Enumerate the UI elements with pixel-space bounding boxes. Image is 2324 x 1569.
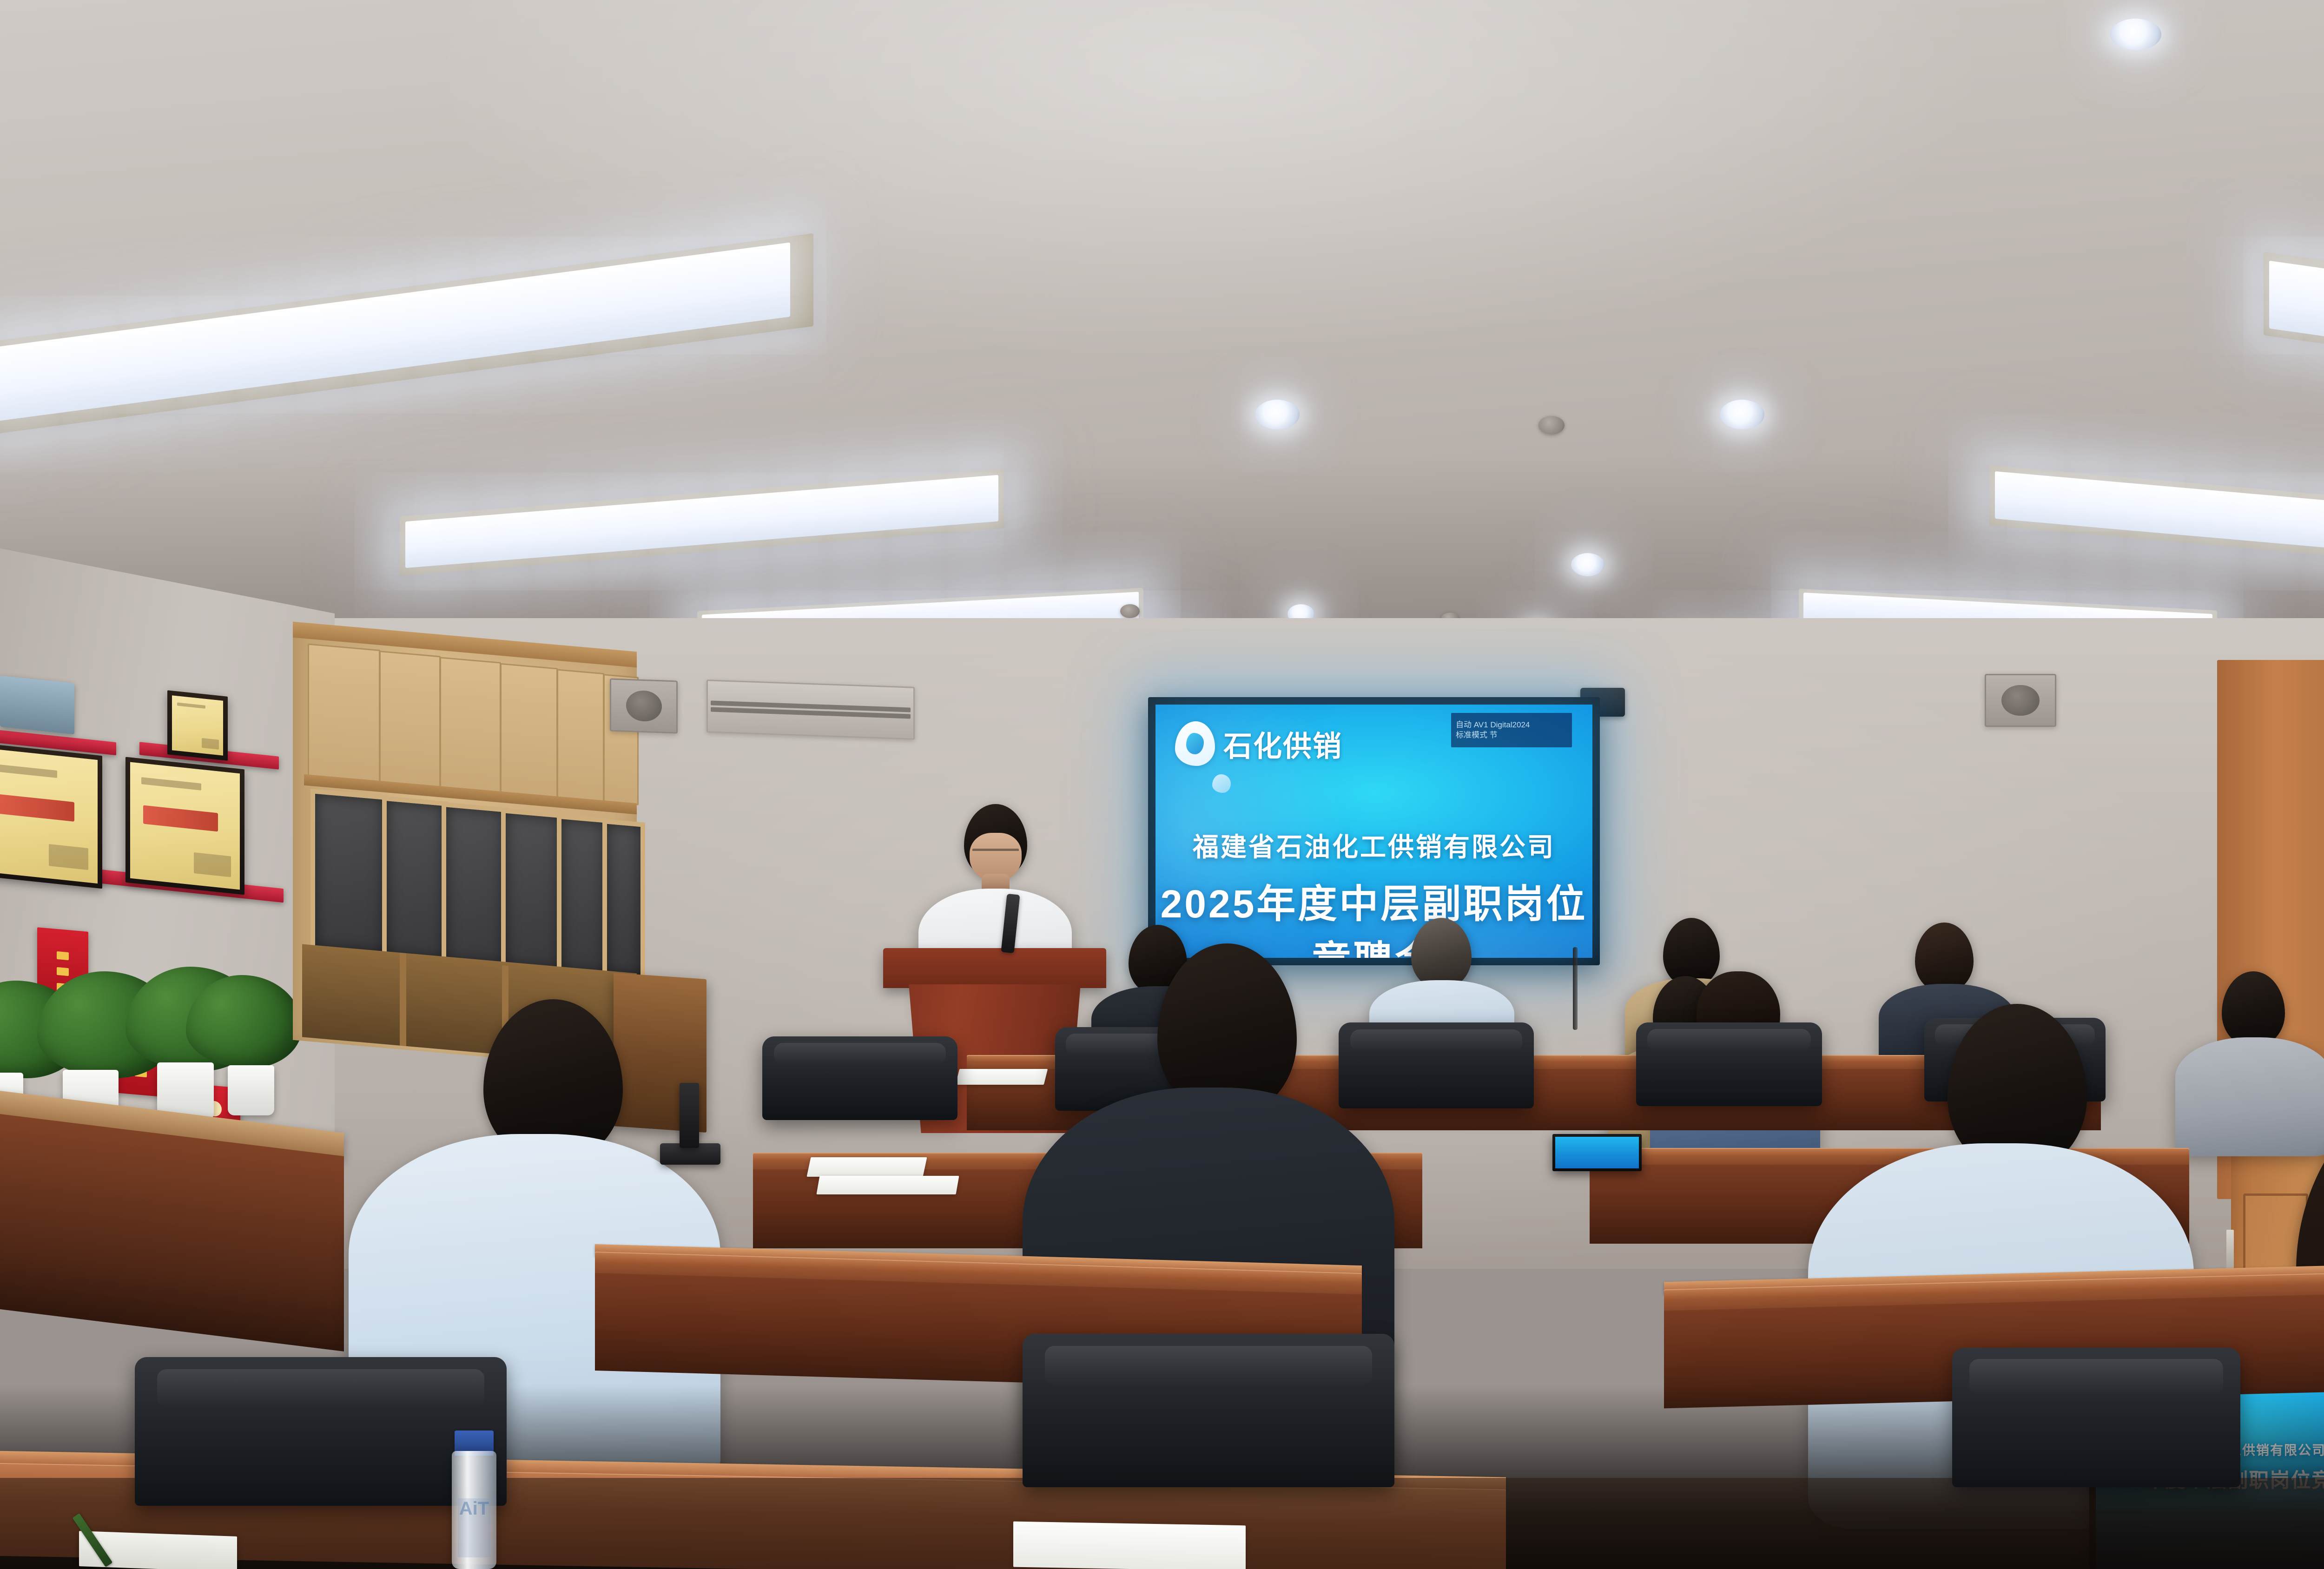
ceiling-downlight-3 xyxy=(1720,400,1764,429)
ceiling-downlight-4 xyxy=(1571,553,1604,576)
cabinet-upper-door-5 xyxy=(557,669,604,802)
osd-line-1: 自动 AV1 Digital2024 xyxy=(1456,720,1567,730)
desk-paper-row3 xyxy=(816,1176,959,1194)
plant-pot-4 xyxy=(228,1065,274,1115)
desk-microphone-stem xyxy=(680,1083,699,1148)
ceiling-downlight-2 xyxy=(1255,400,1300,429)
logo-accent-dot-icon xyxy=(1212,774,1231,793)
cabinet-upper-door-3 xyxy=(440,657,501,794)
head xyxy=(2222,971,2285,1047)
smoke-detector-2 xyxy=(1120,604,1140,618)
cabinet-glass-door-6 xyxy=(602,819,645,982)
chair-foreground-mid[interactable] xyxy=(1023,1334,1394,1487)
brand-logo-text: 石化供销 xyxy=(1223,723,1342,765)
slide-company-name: 福建省石油化工供销有限公司 xyxy=(1155,826,1592,864)
chair-foreground-left[interactable] xyxy=(135,1357,507,1506)
head xyxy=(1411,918,1472,989)
air-conditioning-vent xyxy=(706,679,915,740)
trophy-plaque-top-left xyxy=(0,676,74,735)
cabinet-glass-door-2 xyxy=(382,796,449,964)
cabinet-glass-door-3 xyxy=(442,802,508,970)
ceiling-downlight-1 xyxy=(2110,19,2161,50)
certificate-plaque-small-top xyxy=(167,690,228,761)
cabinet-upper-door-4 xyxy=(500,663,558,799)
wall-speaker-left xyxy=(610,678,678,733)
water-bottle-label: AiT xyxy=(458,1498,490,1557)
cabinet-glass-door-4 xyxy=(501,808,564,975)
display-power-cable xyxy=(1573,947,1578,1030)
certificate-plaque-1 xyxy=(0,743,102,889)
cabinet-glass-door-1 xyxy=(310,789,389,958)
brand-logo-row: 石化供销 xyxy=(1175,721,1342,766)
wall-speaker-right xyxy=(1985,674,2056,727)
cabinet-glass-door-5 xyxy=(557,814,610,978)
head xyxy=(1915,923,1974,992)
shihua-droplet-logo-icon xyxy=(1175,721,1215,766)
cabinet-upper-door-2 xyxy=(379,651,441,789)
desk-paper-row2 xyxy=(807,1157,927,1177)
certificate-plaque-2 xyxy=(125,757,244,895)
presenter-glasses-icon xyxy=(972,849,1019,859)
conference-room-photo: 石化供销 福建省石油化工供销有限公司 2025年度中层副职岗位竞聘会 2025年… xyxy=(0,0,2324,1569)
smoke-detector-1 xyxy=(1538,416,1565,435)
chair-row1-4[interactable] xyxy=(1636,1022,1822,1106)
chair-foreground-right[interactable] xyxy=(1952,1348,2240,1487)
cabinet-upper-door-1 xyxy=(308,643,380,784)
documents-foreground xyxy=(1013,1522,1246,1569)
desk-monitor-row2[interactable] xyxy=(1552,1134,1642,1171)
chair-row1-1[interactable] xyxy=(762,1036,957,1120)
water-bottle: AiT xyxy=(452,1451,496,1569)
display-osd-overlay: 自动 AV1 Digital2024 标准模式 节 xyxy=(1451,713,1572,747)
osd-line-2: 标准模式 节 xyxy=(1456,731,1567,740)
